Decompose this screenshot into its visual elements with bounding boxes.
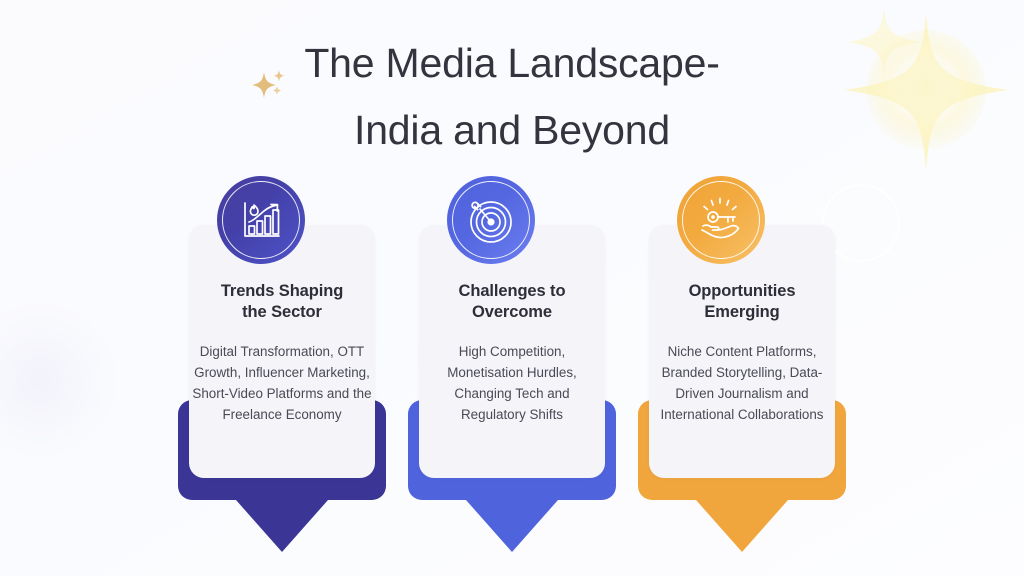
icon-badge-challenges xyxy=(447,176,535,264)
icon-badge-opportunities xyxy=(677,176,765,264)
card-body-opportunities: Niche Content Platforms, Branded Storyte… xyxy=(651,341,833,425)
cards-container: Trends Shaping the Sector Digital Transf… xyxy=(0,0,1024,576)
card-title-line-1: Trends Shaping xyxy=(221,282,343,300)
card-title-line-2: the Sector xyxy=(242,303,322,321)
card-title-line-2: Overcome xyxy=(472,303,552,321)
card-title-trends: Trends Shaping the Sector xyxy=(195,281,369,323)
growth-chart-flame-icon xyxy=(237,196,285,244)
info-card-challenges[interactable]: Challenges to Overcome High Competition,… xyxy=(419,225,605,478)
card-title-line-1: Challenges to xyxy=(459,282,566,300)
card-body-trends: Digital Transformation, OTT Growth, Infl… xyxy=(191,341,373,425)
card-column-opportunities[interactable]: Opportunities Emerging Niche Content Pla… xyxy=(627,0,857,576)
card-body-challenges: High Competition, Monetisation Hurdles, … xyxy=(421,341,603,425)
info-card-trends[interactable]: Trends Shaping the Sector Digital Transf… xyxy=(189,225,375,478)
card-title-line-2: Emerging xyxy=(704,303,779,321)
icon-badge-trends xyxy=(217,176,305,264)
card-title-opportunities: Opportunities Emerging xyxy=(655,281,829,323)
card-title-line-1: Opportunities xyxy=(689,282,796,300)
target-dart-icon xyxy=(467,196,515,244)
card-column-trends[interactable]: Trends Shaping the Sector Digital Transf… xyxy=(167,0,397,576)
info-card-opportunities[interactable]: Opportunities Emerging Niche Content Pla… xyxy=(649,225,835,478)
card-title-challenges: Challenges to Overcome xyxy=(425,281,599,323)
hand-holding-key-icon xyxy=(697,196,745,244)
card-column-challenges[interactable]: Challenges to Overcome High Competition,… xyxy=(397,0,627,576)
